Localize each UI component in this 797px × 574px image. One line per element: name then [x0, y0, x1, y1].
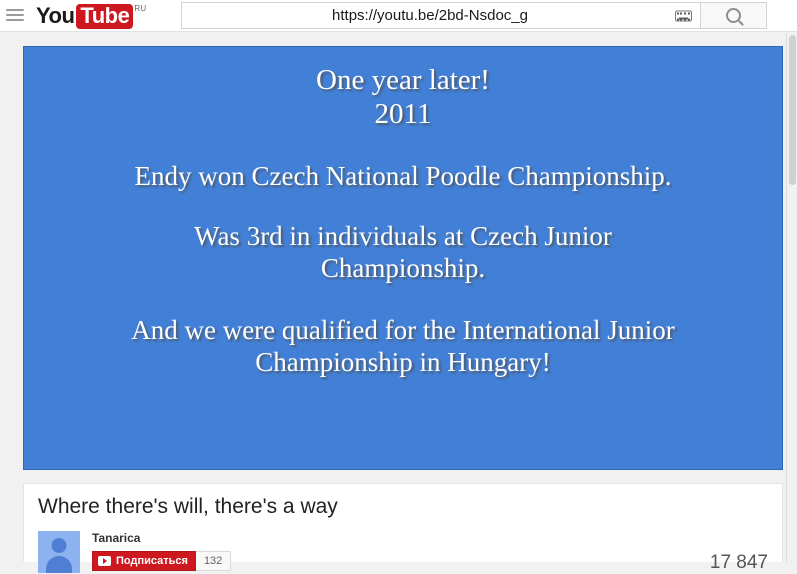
slide-paragraph-1: Endy won Czech National Poodle Champions…	[121, 161, 686, 193]
hamburger-menu-icon[interactable]	[6, 9, 24, 23]
slide-content: One year later! 2011 Endy won Czech Nati…	[24, 47, 782, 469]
channel-owner-row: Tanarica Подписаться 132	[38, 531, 231, 573]
video-title: Where there's will, there's a way	[38, 494, 338, 519]
hamburger-bar	[6, 19, 24, 21]
subscribe-row: Подписаться 132	[92, 551, 231, 571]
slide-paragraph-3-line2: Championship in Hungary!	[131, 347, 675, 379]
logo-tube-box: Tube	[76, 4, 133, 29]
avatar[interactable]	[38, 531, 80, 573]
hamburger-bar	[6, 9, 24, 11]
slide-paragraph-2-line2: Championship.	[194, 253, 612, 285]
search-button[interactable]	[701, 2, 767, 29]
video-meta-card: Where there's will, there's a way Tanari…	[23, 483, 783, 562]
masthead: You Tube RU	[0, 0, 797, 32]
channel-info: Tanarica Подписаться 132	[92, 531, 231, 571]
subscriber-count[interactable]: 132	[196, 551, 231, 571]
slide-title-line1: One year later!	[316, 63, 490, 97]
play-icon	[98, 556, 111, 566]
search-box[interactable]	[181, 2, 701, 29]
keyboard-icon[interactable]	[675, 10, 692, 21]
search-area	[181, 2, 767, 29]
scrollbar-thumb[interactable]	[789, 35, 796, 185]
search-icon	[726, 8, 741, 23]
slide-title: One year later! 2011	[302, 63, 504, 131]
subscribe-button[interactable]: Подписаться	[92, 551, 196, 571]
slide-paragraph-2: Was 3rd in individuals at Czech Junior C…	[180, 221, 626, 285]
search-input[interactable]	[182, 7, 700, 24]
slide-title-line2: 2011	[316, 97, 490, 131]
subscribe-button-label: Подписаться	[116, 556, 188, 567]
hamburger-bar	[6, 14, 24, 16]
slide-paragraph-2-line1: Was 3rd in individuals at Czech Junior	[194, 221, 612, 253]
channel-name-link[interactable]: Tanarica	[92, 531, 231, 545]
avatar-body-shape	[46, 556, 72, 573]
view-count: 17 847	[710, 552, 768, 574]
logo-tube-text: Tube	[80, 3, 129, 28]
page-body: One year later! 2011 Endy won Czech Nati…	[0, 33, 786, 562]
slide-paragraph-3-line1: And we were qualified for the Internatio…	[131, 315, 675, 347]
slide-paragraph-1-line1: Endy won Czech National Poodle Champions…	[135, 161, 672, 193]
page-scrollbar[interactable]	[786, 33, 797, 562]
slide-paragraph-3: And we were qualified for the Internatio…	[117, 315, 689, 379]
avatar-head-shape	[52, 538, 67, 553]
video-player[interactable]: One year later! 2011 Endy won Czech Nati…	[23, 46, 783, 470]
logo-country-code: RU	[134, 4, 146, 13]
logo-you-text: You	[36, 5, 74, 27]
youtube-logo[interactable]: You Tube RU	[36, 2, 146, 30]
